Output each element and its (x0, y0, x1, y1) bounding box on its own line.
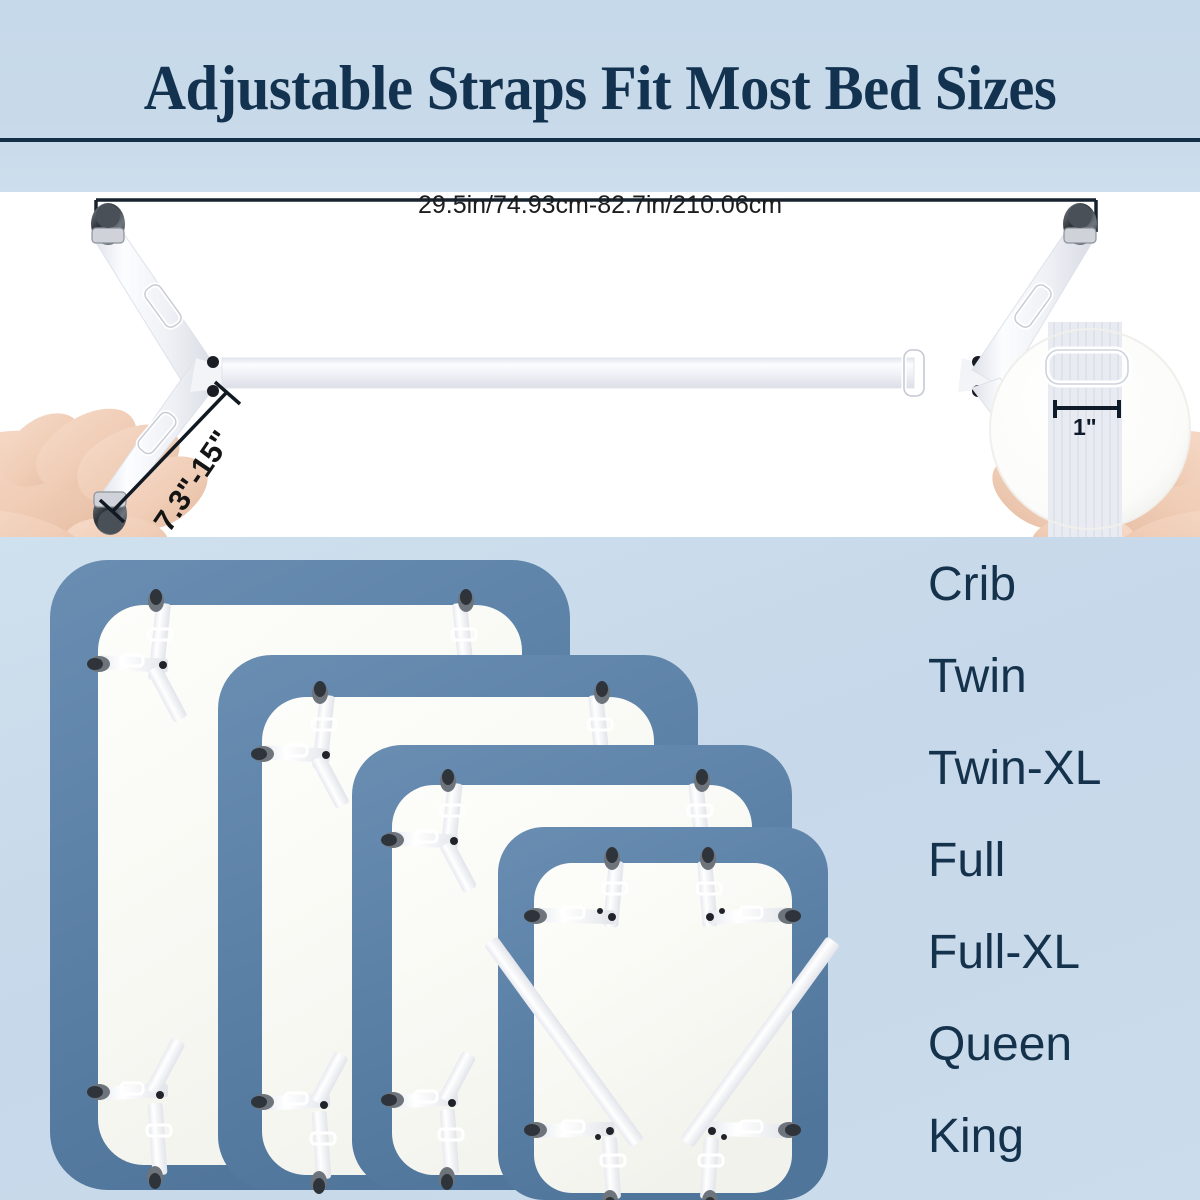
bed-size-item-king: King (928, 1113, 1024, 1161)
length-dimension-label: 29.5in/74.93cm-82.7in/210.06cm (0, 192, 1200, 220)
bed-size-item-full: Full (928, 837, 1005, 885)
bed-size-item-twin: Twin (928, 653, 1027, 701)
header-divider (0, 138, 1200, 142)
strap-clip-bottom-left (93, 492, 127, 535)
strap-diagram-panel: 29.5in/74.93cm-82.7in/210.06cm 7.3"-15" … (0, 192, 1200, 537)
page-title: Adjustable Straps Fit Most Bed Sizes (42, 52, 1158, 125)
mattress-small (484, 827, 840, 1200)
width-dimension-label: 1" (1073, 414, 1097, 441)
bed-sizes-section: Crib Twin Twin-XL Full Full-XL Queen Kin… (0, 537, 1200, 1200)
header-band: Adjustable Straps Fit Most Bed Sizes (0, 0, 1200, 192)
bed-size-list: Crib Twin Twin-XL Full Full-XL Queen Kin… (928, 543, 1200, 1200)
product-infographic: Adjustable Straps Fit Most Bed Sizes (0, 0, 1200, 1200)
bed-size-item-twin-xl: Twin-XL (928, 745, 1101, 793)
adjustable-strap-assembly (91, 203, 1097, 535)
bed-size-item-full-xl: Full-XL (928, 929, 1080, 977)
bed-size-item-crib: Crib (928, 561, 1016, 609)
bed-size-item-queen: Queen (928, 1021, 1072, 1069)
